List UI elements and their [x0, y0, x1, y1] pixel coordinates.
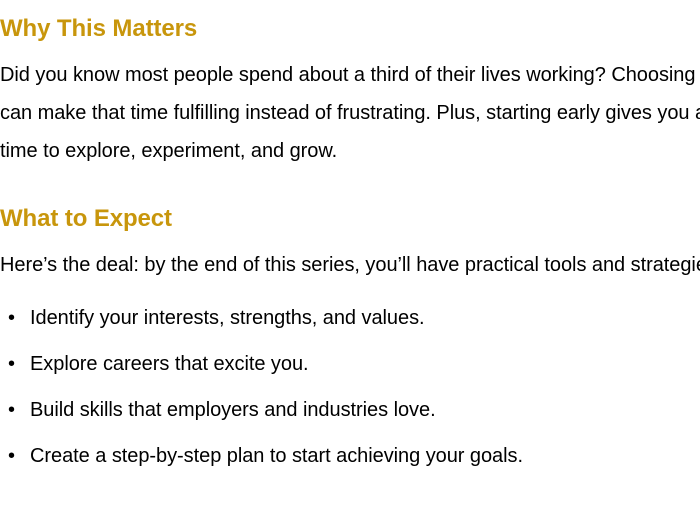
document-viewport[interactable]: Why This Matters Did you know most peopl… [0, 0, 700, 520]
section-body-why-this-matters: Did you know most people spend about a t… [0, 56, 700, 170]
expectations-list: • Identify your interests, strengths, an… [0, 304, 700, 470]
section-what-to-expect: What to Expect Here’s the deal: by the e… [0, 204, 700, 470]
list-item-label: Identify your interests, strengths, and … [30, 307, 425, 329]
section-heading-why-this-matters: Why This Matters [0, 14, 700, 44]
document-page: Why This Matters Did you know most peopl… [0, 0, 700, 470]
list-item-label: Explore careers that excite you. [30, 353, 309, 375]
bullet-icon: • [8, 350, 15, 378]
section-heading-what-to-expect: What to Expect [0, 204, 700, 234]
list-item: • Build skills that employers and indust… [0, 396, 700, 424]
list-item: • Identify your interests, strengths, an… [0, 304, 700, 332]
section-body-what-to-expect: Here’s the deal: by the end of this seri… [0, 246, 700, 284]
list-item-label: Create a step-by-step plan to start achi… [30, 445, 523, 467]
list-item: • Explore careers that excite you. [0, 350, 700, 378]
section-why-this-matters: Why This Matters Did you know most peopl… [0, 14, 700, 170]
bullet-icon: • [8, 442, 15, 470]
bullet-icon: • [8, 304, 15, 332]
list-item-label: Build skills that employers and industri… [30, 399, 436, 421]
list-item: • Create a step-by-step plan to start ac… [0, 442, 700, 470]
bullet-icon: • [8, 396, 15, 424]
